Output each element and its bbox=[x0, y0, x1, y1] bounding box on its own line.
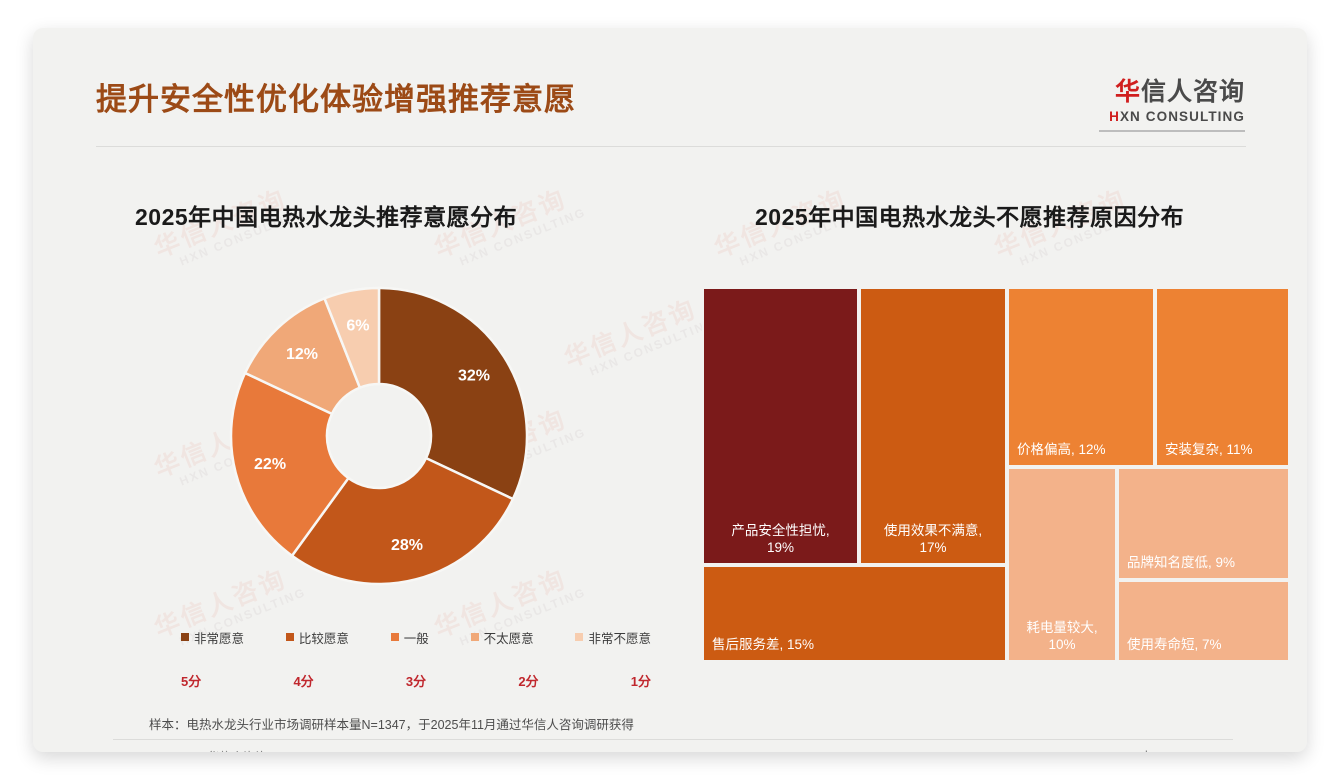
legend-item[interactable]: 非常不愿意 bbox=[575, 628, 651, 647]
score-label: 4分 bbox=[293, 671, 313, 690]
legend-swatch bbox=[575, 633, 583, 641]
treemap-cell[interactable]: 耗电量较大,10% bbox=[1007, 467, 1117, 662]
legend-swatch bbox=[391, 633, 399, 641]
left-chart-title: 2025年中国电热水龙头推荐意愿分布 bbox=[135, 198, 517, 232]
donut-slice-value: 22% bbox=[254, 456, 286, 473]
donut-slice[interactable] bbox=[379, 288, 527, 499]
treemap-cell-label: 售后服务差, 15% bbox=[712, 637, 999, 653]
reasons-treemap-chart: 产品安全性担忧,19%使用效果不满意,17%售后服务差, 15%价格偏高, 12… bbox=[702, 287, 1290, 662]
treemap-cell[interactable]: 售后服务差, 15% bbox=[702, 565, 1007, 662]
logo-english-rest: XN CONSULTING bbox=[1120, 109, 1245, 124]
legend-label: 比较愿意 bbox=[299, 628, 349, 647]
donut-slice-value: 12% bbox=[286, 346, 318, 363]
logo-chinese: 华信人咨询 bbox=[1099, 80, 1245, 105]
donut-legend: 非常愿意比较愿意一般不太愿意非常不愿意 bbox=[181, 628, 651, 646]
treemap-cell-label: 品牌知名度低, 9% bbox=[1127, 555, 1282, 571]
treemap-cell-label: 使用寿命短, 7% bbox=[1127, 637, 1282, 653]
legend-swatch bbox=[181, 633, 189, 641]
score-scale-row: 5分4分3分2分1分 bbox=[181, 671, 651, 689]
legend-item[interactable]: 非常愿意 bbox=[181, 628, 244, 647]
logo-chinese-rest: 信人咨询 bbox=[1141, 78, 1245, 106]
treemap-cell-label: 安装复杂, 11% bbox=[1165, 442, 1282, 458]
footer-website: www.hxrcon.com bbox=[1116, 748, 1207, 752]
logo-english: HXN CONSULTING bbox=[1099, 110, 1245, 124]
treemap-cell[interactable]: 安装复杂, 11% bbox=[1155, 287, 1290, 467]
legend-label: 一般 bbox=[404, 628, 429, 647]
donut-slice-value: 6% bbox=[346, 318, 369, 335]
score-label: 3分 bbox=[406, 671, 426, 690]
slide-card: 华信人咨询HXN CONSULTING华信人咨询HXN CONSULTING华信… bbox=[33, 28, 1307, 752]
legend-label: 不太愿意 bbox=[484, 628, 534, 647]
treemap-cell-label: 价格偏高, 12% bbox=[1017, 442, 1147, 458]
treemap-cell-label: 使用效果不满意,17% bbox=[865, 523, 1001, 556]
legend-item[interactable]: 比较愿意 bbox=[286, 628, 349, 647]
legend-item[interactable]: 一般 bbox=[391, 628, 429, 647]
logo-chinese-highlight: 华 bbox=[1115, 78, 1141, 106]
donut-slice-value: 28% bbox=[391, 537, 423, 554]
header-divider bbox=[96, 146, 1246, 147]
donut-svg: 32%28%22%12%6% bbox=[201, 280, 557, 592]
footer-divider bbox=[113, 739, 1233, 740]
legend-swatch bbox=[471, 633, 479, 641]
score-label: 2分 bbox=[518, 671, 538, 690]
page-title: 提升安全性优化体验增强推荐意愿 bbox=[96, 84, 576, 115]
legend-label: 非常不愿意 bbox=[588, 628, 651, 647]
right-chart-title: 2025年中国电热水龙头不愿推荐原因分布 bbox=[755, 198, 1184, 232]
legend-item[interactable]: 不太愿意 bbox=[471, 628, 534, 647]
treemap-cell[interactable]: 品牌知名度低, 9% bbox=[1117, 467, 1290, 580]
treemap-cell[interactable]: 使用效果不满意,17% bbox=[859, 287, 1007, 565]
score-label: 1分 bbox=[631, 671, 651, 690]
legend-swatch bbox=[286, 633, 294, 641]
score-label: 5分 bbox=[181, 671, 201, 690]
treemap-cell[interactable]: 使用寿命短, 7% bbox=[1117, 580, 1290, 662]
watermark: 华信人咨询HXN CONSULTING bbox=[561, 291, 718, 386]
donut-slice-value: 32% bbox=[458, 368, 490, 385]
slide-header: 提升安全性优化体验增强推荐意愿 华信人咨询 HXN CONSULTING bbox=[33, 28, 1307, 120]
treemap-cell-label: 产品安全性担忧,19% bbox=[708, 523, 853, 556]
recommendation-donut-chart: 32%28%22%12%6% bbox=[201, 280, 557, 592]
treemap-cell[interactable]: 价格偏高, 12% bbox=[1007, 287, 1155, 467]
treemap-cell[interactable]: 产品安全性担忧,19% bbox=[702, 287, 859, 565]
legend-label: 非常愿意 bbox=[194, 628, 244, 647]
logo-underline bbox=[1099, 130, 1245, 132]
sample-note: 样本：电热水龙头行业市场调研样本量N=1347，于2025年11月通过华信人咨询… bbox=[149, 714, 634, 733]
treemap-cell-label: 耗电量较大,10% bbox=[1013, 620, 1111, 653]
footer-copyright: ©2026.1 HXR华信人咨询 bbox=[133, 748, 267, 752]
logo-english-highlight: H bbox=[1109, 109, 1120, 124]
brand-logo: 华信人咨询 HXN CONSULTING bbox=[1099, 80, 1245, 132]
